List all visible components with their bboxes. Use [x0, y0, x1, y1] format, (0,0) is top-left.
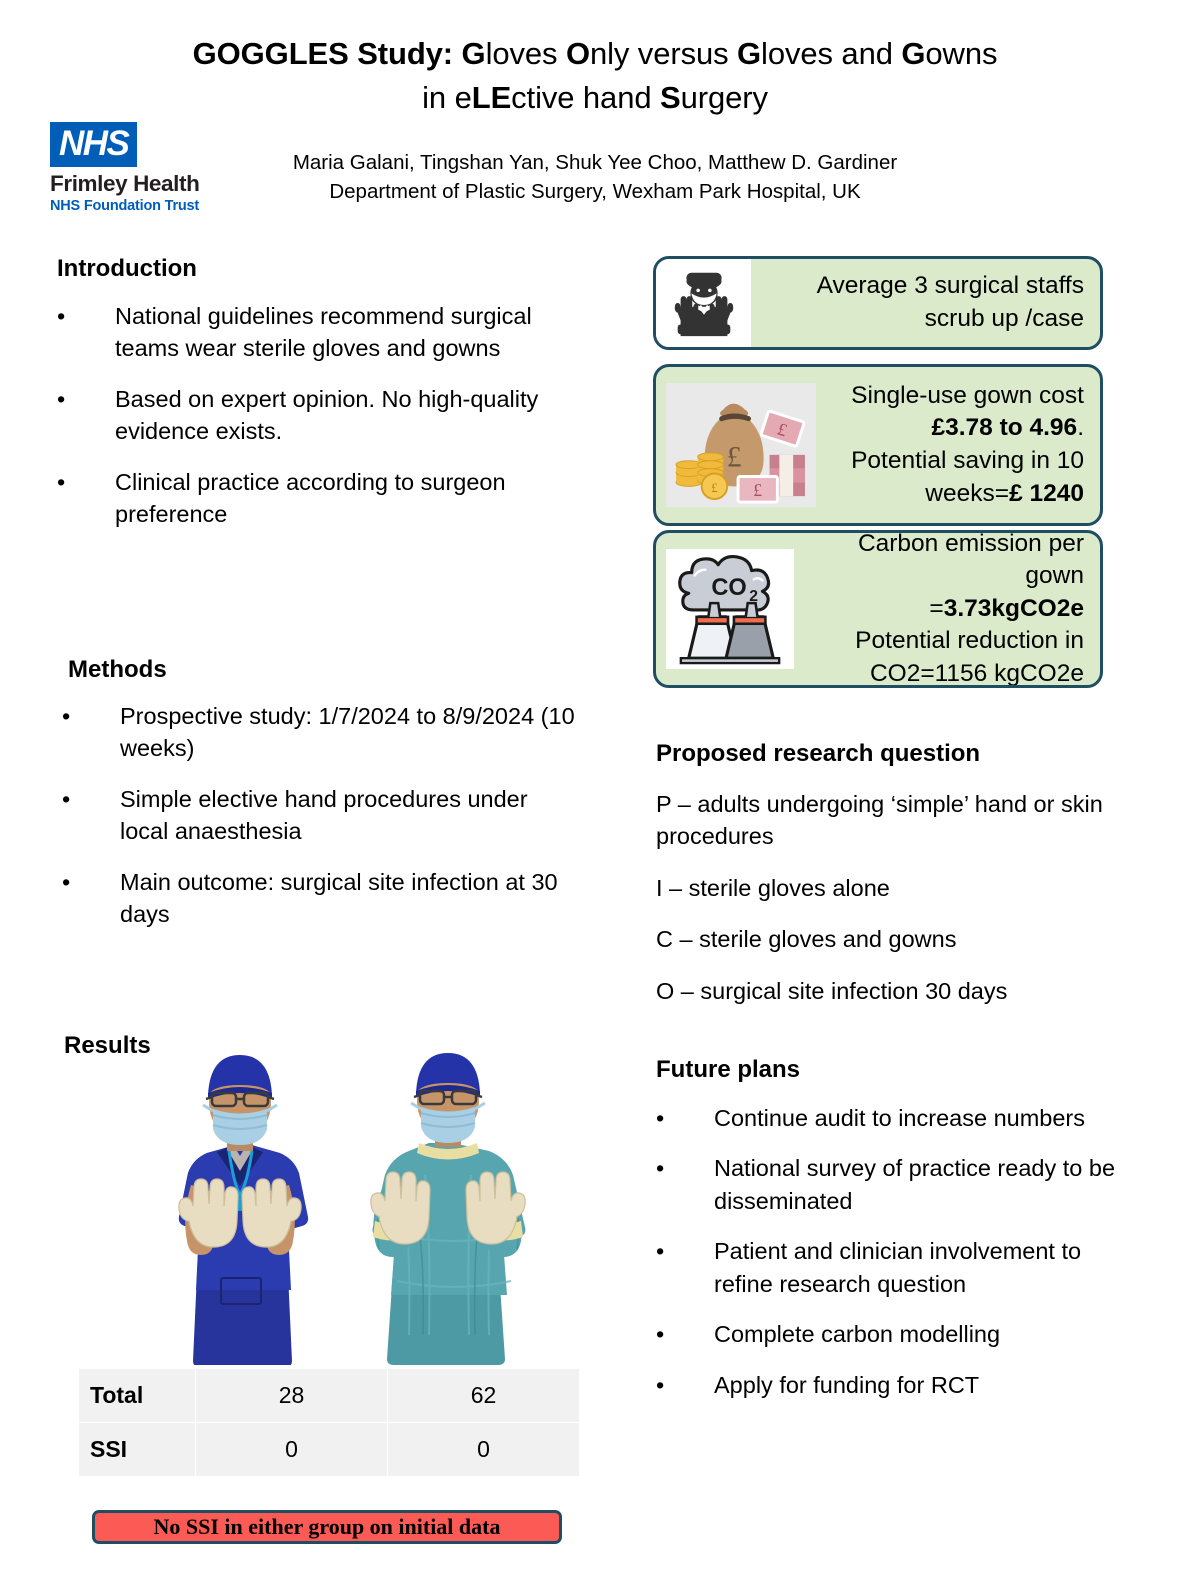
title-line2-run-0: in e — [422, 80, 472, 115]
title-line-1: GOGGLES Study: Gloves Only versus Gloves… — [95, 32, 1095, 76]
bullet-dot-icon: • — [57, 383, 115, 415]
callout-2-line-1-run-1: 3.73kgCO2e — [944, 595, 1084, 622]
bullet-dot-icon: • — [57, 466, 115, 498]
surgeon-gown-and-gloves — [371, 1053, 526, 1365]
callout-line: scrub up /case — [757, 303, 1084, 336]
title-line1-run-2: O — [566, 36, 590, 71]
page-title: GOGGLES Study: Gloves Only versus Gloves… — [95, 32, 1095, 120]
callout-0-line-1-run-0: scrub up /case — [925, 305, 1084, 332]
future-plans-item-text: Apply for funding for RCT — [714, 1369, 1146, 1401]
callout-line: Average 3 surgical staffs — [757, 270, 1084, 303]
callout-1-line-1-run-0: £3.78 to 4.96 — [931, 414, 1077, 441]
svg-text:£: £ — [711, 481, 717, 495]
callout-2-line-1-run-0: = — [929, 595, 943, 622]
future-plans-item-text: Continue audit to increase numbers — [714, 1102, 1146, 1134]
methods-item-text: Main outcome: surgical site infection at… — [120, 866, 582, 931]
callout-line: Potential reduction in — [800, 625, 1084, 658]
surgeon-gloves-only — [179, 1055, 308, 1365]
research-question-line: I – sterile gloves alone — [656, 872, 1136, 904]
introduction-item: •Clinical practice according to surgeon … — [57, 466, 562, 531]
callout-box-staff: Average 3 surgical staffsscrub up /case — [653, 256, 1103, 350]
callout-1-line-2-run-0: Potential saving in 10 — [851, 447, 1084, 474]
poster-canvas: GOGGLES Study: Gloves Only versus Gloves… — [0, 0, 1190, 1588]
research-question-line: P – adults undergoing ‘simple’ hand or s… — [656, 788, 1136, 853]
no-ssi-banner: No SSI in either group on initial data — [92, 1510, 562, 1544]
title-line1-run-0: G — [462, 36, 486, 71]
title-line1-run-3: nly versus — [590, 36, 737, 71]
callout-text-carbon: Carbon emission per gown=3.73kgCO2ePoten… — [794, 530, 1100, 688]
research-question-line: C – sterile gloves and gowns — [656, 923, 1136, 955]
callout-text-staff: Average 3 surgical staffsscrub up /case — [751, 266, 1100, 339]
bullet-dot-icon: • — [656, 1318, 714, 1350]
nhs-badge: NHS — [50, 122, 137, 167]
introduction-item-text: Based on expert opinion. No high-quality… — [115, 383, 562, 448]
results-table: Total2862SSI00 — [78, 1368, 580, 1477]
callout-line: CO2=1156 kgCO2e — [800, 658, 1084, 688]
future-plans-item: •Continue audit to increase numbers — [656, 1102, 1146, 1134]
callout-2-line-3-run-0: CO2=1156 kgCO2e — [870, 660, 1084, 687]
title-line2-run-4: urgery — [681, 80, 768, 115]
methods-item-text: Simple elective hand procedures under lo… — [120, 783, 582, 848]
surgeon-scrubbed-icon — [656, 259, 751, 347]
title-line-2: in eLEctive hand Surgery — [95, 76, 1095, 120]
bullet-dot-icon: • — [62, 700, 120, 732]
title-line2-run-3: S — [660, 80, 681, 115]
title-line2-run-1: LE — [472, 80, 511, 115]
title-line1-run-7: owns — [925, 36, 997, 71]
callout-1-line-0-run-0: Single-use gown cost — [851, 382, 1084, 409]
bullet-dot-icon: • — [656, 1369, 714, 1401]
callout-box-carbon: CO 2 Carbon emission per gown=3.73kgCO2e… — [653, 530, 1103, 688]
bullet-dot-icon: • — [656, 1235, 714, 1267]
bullet-dot-icon: • — [57, 300, 115, 332]
title-line1-run-1: loves — [486, 36, 566, 71]
title-line1-run-4: G — [737, 36, 761, 71]
callout-1-line-3-run-0: weeks= — [925, 480, 1009, 507]
bullet-dot-icon: • — [656, 1102, 714, 1134]
future-plans-item-text: Complete carbon modelling — [714, 1318, 1146, 1350]
introduction-bullet-list: •National guidelines recommend surgical … — [57, 300, 562, 549]
section-heading-methods: Methods — [68, 656, 167, 685]
callout-0-line-0-run-0: Average 3 surgical staffs — [817, 272, 1084, 299]
co2-emissions-icon-glyph: CO 2 — [667, 550, 793, 668]
title-line1-run-5: loves and — [761, 36, 901, 71]
author-block: Maria Galani, Tingshan Yan, Shuk Yee Cho… — [200, 148, 990, 206]
table-cell-gloves-only: 28 — [196, 1369, 388, 1423]
title-line1-run-6: G — [901, 36, 925, 71]
future-plans-item: •Complete carbon modelling — [656, 1318, 1146, 1350]
future-plans-item: •Patient and clinician involvement to re… — [656, 1235, 1146, 1300]
callout-2-line-2-run-0: Potential reduction in — [855, 627, 1084, 654]
methods-item-text: Prospective study: 1/7/2024 to 8/9/2024 … — [120, 700, 582, 765]
table-cell-gloves-only: 0 — [196, 1423, 388, 1477]
section-heading-introduction: Introduction — [57, 255, 197, 284]
author-names: Maria Galani, Tingshan Yan, Shuk Yee Cho… — [200, 148, 990, 177]
callout-1-line-1-run-1: . — [1077, 414, 1084, 441]
surgeons-photo-illustration — [155, 1025, 585, 1365]
methods-item: •Main outcome: surgical site infection a… — [62, 866, 582, 931]
money-bag-icon: £ £ — [666, 383, 816, 507]
section-heading-future-plans: Future plans — [656, 1056, 800, 1085]
results-photo — [155, 1025, 585, 1365]
table-row-label: Total — [79, 1369, 196, 1423]
table-row-label: SSI — [79, 1423, 196, 1477]
svg-text:CO: CO — [711, 575, 746, 601]
methods-item: •Simple elective hand procedures under l… — [62, 783, 582, 848]
title-line2-run-2: ctive hand — [511, 80, 660, 115]
co2-emissions-icon: CO 2 — [666, 549, 794, 669]
introduction-item-text: Clinical practice according to surgeon p… — [115, 466, 562, 531]
introduction-item-text: National guidelines recommend surgical t… — [115, 300, 562, 365]
section-heading-research-question: Proposed research question — [656, 740, 980, 769]
callout-line: Single-use gown cost — [822, 380, 1084, 413]
money-bag-icon-glyph: £ £ — [667, 384, 815, 506]
future-plans-item: •Apply for funding for RCT — [656, 1369, 1146, 1401]
methods-item: •Prospective study: 1/7/2024 to 8/9/2024… — [62, 700, 582, 765]
bullet-dot-icon: • — [62, 783, 120, 815]
callout-line: £3.78 to 4.96. — [822, 412, 1084, 445]
callout-box-cost: £ £ — [653, 364, 1103, 526]
section-heading-results: Results — [64, 1032, 151, 1061]
table-row: SSI00 — [79, 1423, 580, 1477]
title-study-name: GOGGLES Study: — [193, 36, 462, 71]
future-plans-bullet-list: •Continue audit to increase numbers•Nati… — [656, 1102, 1146, 1419]
table-cell-gloves-and-gowns: 62 — [388, 1369, 580, 1423]
bullet-dot-icon: • — [656, 1152, 714, 1184]
table-cell-gloves-and-gowns: 0 — [388, 1423, 580, 1477]
callout-text-cost: Single-use gown cost£3.78 to 4.96.Potent… — [816, 376, 1100, 514]
callout-line: Carbon emission per gown — [800, 530, 1084, 593]
future-plans-item-text: National survey of practice ready to be … — [714, 1152, 1146, 1217]
callout-line: weeks=£ 1240 — [822, 478, 1084, 511]
callout-1-line-3-run-1: £ 1240 — [1009, 480, 1084, 507]
surgeon-scrubbed-icon-glyph — [665, 264, 743, 342]
callout-2-line-0-run-0: Carbon emission per gown — [858, 530, 1084, 589]
author-affiliation: Department of Plastic Surgery, Wexham Pa… — [200, 177, 990, 206]
callout-line: Potential saving in 10 — [822, 445, 1084, 478]
methods-bullet-list: •Prospective study: 1/7/2024 to 8/9/2024… — [62, 700, 582, 949]
research-question-lines: P – adults undergoing ‘simple’ hand or s… — [656, 788, 1136, 1026]
research-question-line: O – surgical site infection 30 days — [656, 975, 1136, 1007]
future-plans-item-text: Patient and clinician involvement to ref… — [714, 1235, 1146, 1300]
bullet-dot-icon: • — [62, 866, 120, 898]
title-line-1-rest: Gloves Only versus Gloves and Gowns — [462, 36, 998, 71]
svg-text:£: £ — [727, 442, 742, 474]
table-row: Total2862 — [79, 1369, 580, 1423]
callout-line: =3.73kgCO2e — [800, 593, 1084, 626]
future-plans-item: •National survey of practice ready to be… — [656, 1152, 1146, 1217]
svg-text:£: £ — [753, 480, 762, 500]
introduction-item: •Based on expert opinion. No high-qualit… — [57, 383, 562, 448]
introduction-item: •National guidelines recommend surgical … — [57, 300, 562, 365]
